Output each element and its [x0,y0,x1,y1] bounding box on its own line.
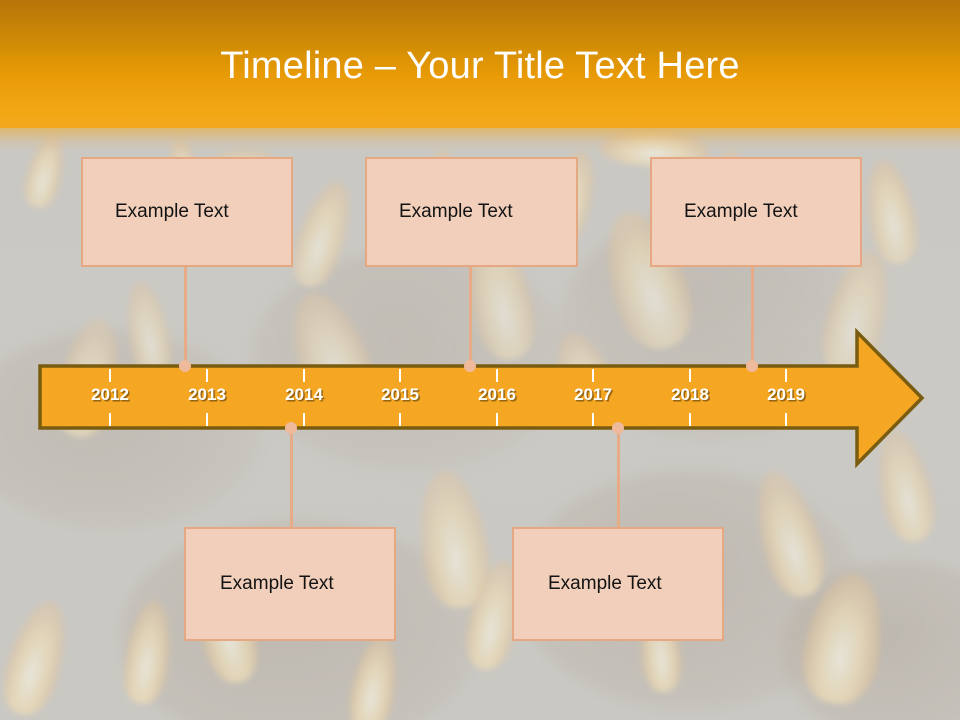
callout-connector-line [469,267,472,366]
callout-text: Example Text [186,572,334,596]
year-tick-upper [496,369,498,382]
callout-connector-dot [746,360,758,372]
year-tick-lower [303,413,305,426]
year-tick-upper [399,369,401,382]
callout-box-above-2[interactable]: Example Text [365,157,578,267]
year-tick-lower [206,413,208,426]
callout-box-above-1[interactable]: Example Text [81,157,293,267]
year-label-2012[interactable]: 2012 [65,384,155,406]
callout-connector-line [290,428,293,527]
year-tick-upper [206,369,208,382]
year-tick-lower [689,413,691,426]
callout-connector-dot [612,422,624,434]
callout-text: Example Text [367,200,513,224]
year-label-2013[interactable]: 2013 [162,384,252,406]
year-tick-upper [689,369,691,382]
callout-box-above-3[interactable]: Example Text [650,157,862,267]
callout-text: Example Text [652,200,798,224]
timeline-slide: Timeline – Your Title Text Here 20122013… [0,0,960,720]
title-banner-fade [0,112,960,152]
year-tick-upper [592,369,594,382]
year-tick-lower [399,413,401,426]
callout-box-below-2[interactable]: Example Text [512,527,724,641]
year-tick-lower [785,413,787,426]
callout-text: Example Text [514,572,662,596]
year-label-2015[interactable]: 2015 [355,384,445,406]
page-title: Timeline – Your Title Text Here [0,42,960,90]
year-label-2018[interactable]: 2018 [645,384,735,406]
callout-connector-dot [179,360,191,372]
year-tick-upper [785,369,787,382]
year-tick-upper [109,369,111,382]
year-label-2016[interactable]: 2016 [452,384,542,406]
year-label-2014[interactable]: 2014 [259,384,349,406]
year-tick-lower [592,413,594,426]
callout-connector-dot [285,422,297,434]
callout-connector-dot [464,360,476,372]
callout-connector-line [751,267,754,366]
year-label-2019[interactable]: 2019 [741,384,831,406]
callout-text: Example Text [83,200,229,224]
year-tick-lower [109,413,111,426]
callout-connector-line [617,428,620,527]
year-tick-lower [496,413,498,426]
year-label-2017[interactable]: 2017 [548,384,638,406]
callout-box-below-1[interactable]: Example Text [184,527,396,641]
callout-connector-line [184,267,187,366]
year-tick-upper [303,369,305,382]
